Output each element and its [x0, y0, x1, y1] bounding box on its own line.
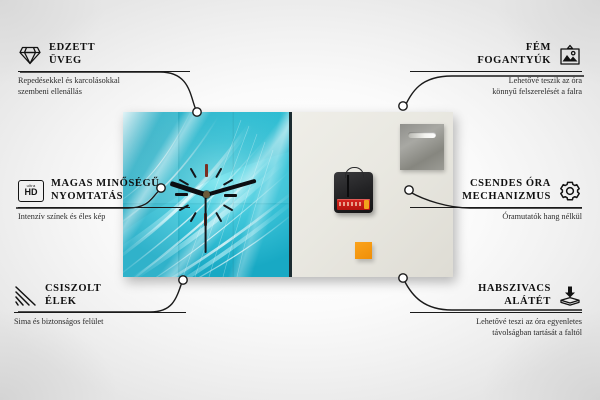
- feature-head: CSISZOLT ÉLEK: [14, 283, 186, 308]
- feature-divider: [410, 71, 582, 72]
- feature-head: ultra HD MAGAS MINŐSÉGŰ NYOMTATÁS: [18, 178, 190, 203]
- mechanism-seam: [347, 175, 349, 197]
- feature-subtitle-line2: szembeni ellenállás: [18, 87, 190, 98]
- battery-terminal: [364, 200, 369, 209]
- ultra-hd-large-text: HD: [25, 188, 38, 197]
- picture-hanger-icon: [558, 44, 582, 66]
- feature-divider: [410, 207, 582, 208]
- feature-subtitle-line1: Óramutatók hang nélkül: [410, 212, 582, 223]
- feature-divider: [14, 312, 186, 313]
- clock-second-hand: [205, 195, 207, 253]
- feature-subtitle-line1: Intenzív színek és éles kép: [18, 212, 190, 223]
- feature-foam-pad: HABSZIVACS ALÁTÉT Lehetővé teszi az óra …: [410, 283, 582, 338]
- clock-center-cap: [203, 191, 210, 198]
- feature-title: CSISZOLT ÉLEK: [45, 283, 101, 308]
- gear-icon: [558, 180, 582, 202]
- ultra-hd-icon: ultra HD: [18, 180, 44, 202]
- foam-pad: [355, 242, 372, 259]
- feature-title: MAGAS MINŐSÉGŰ NYOMTATÁS: [51, 178, 159, 203]
- feature-metal-handles: FÉM FOGANTYÚK Lehetővé teszik az óra kön…: [410, 42, 582, 97]
- feature-divider: [18, 71, 190, 72]
- feature-head: HABSZIVACS ALÁTÉT: [410, 283, 582, 308]
- hanger-slot: [408, 132, 436, 138]
- feature-polished-edges: CSISZOLT ÉLEK Sima és biztonságos felüle…: [14, 283, 186, 328]
- infographic-canvas: EDZETT ÜVEG Repedésekkel és karcolásokka…: [0, 0, 600, 400]
- feature-head: EDZETT ÜVEG: [18, 42, 190, 67]
- feature-subtitle-line2: távolságban tartását a faltól: [410, 328, 582, 339]
- feature-subtitle-line2: könnyű felszerelését a falra: [410, 87, 582, 98]
- clock-mechanism: [334, 172, 373, 213]
- feature-subtitle-line1: Repedésekkel és karcolásokkal: [18, 76, 190, 87]
- feature-title: HABSZIVACS ALÁTÉT: [478, 283, 551, 308]
- feature-title: EDZETT ÜVEG: [49, 42, 95, 67]
- feature-subtitle-line1: Sima és biztonságos felület: [14, 317, 186, 328]
- diamond-icon: [18, 44, 42, 66]
- metal-hanger: [400, 124, 444, 170]
- feature-silent-mechanism: CSENDES ÓRA MECHANIZMUS Óramutatók hang …: [410, 178, 582, 223]
- feature-title: FÉM FOGANTYÚK: [477, 42, 551, 67]
- feature-head: CSENDES ÓRA MECHANIZMUS: [410, 178, 582, 203]
- feature-divider: [410, 312, 582, 313]
- feature-subtitle-line1: Lehetővé teszik az óra: [410, 76, 582, 87]
- hatched-edge-icon: [14, 285, 38, 307]
- feature-head: FÉM FOGANTYÚK: [410, 42, 582, 67]
- feature-tempered-glass: EDZETT ÜVEG Repedésekkel és karcolásokka…: [18, 42, 190, 97]
- feature-high-quality-print: ultra HD MAGAS MINŐSÉGŰ NYOMTATÁS Intenz…: [18, 178, 190, 223]
- feature-title: CSENDES ÓRA MECHANIZMUS: [462, 178, 551, 203]
- battery-label: [339, 202, 363, 206]
- feature-subtitle-line1: Lehetővé teszi az óra egyenletes: [410, 317, 582, 328]
- feature-divider: [18, 207, 190, 208]
- press-pad-icon: [558, 285, 582, 307]
- wire-dot-metal-handles: [399, 102, 407, 110]
- battery: [337, 199, 370, 210]
